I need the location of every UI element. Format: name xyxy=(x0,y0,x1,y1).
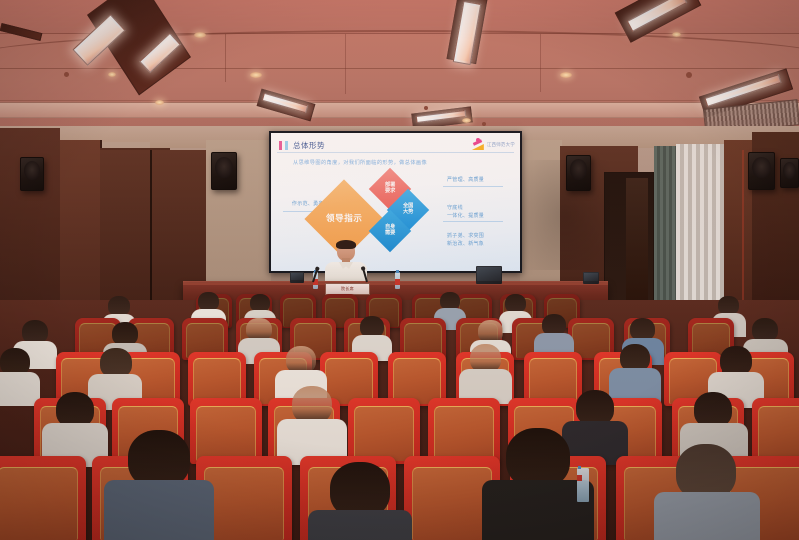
nameplate-text: 院长席 xyxy=(341,286,354,292)
curtain-dark-right xyxy=(654,146,676,316)
diagram-node-top-right-label: 部署 要求 xyxy=(385,183,395,195)
wall-wood-left-door xyxy=(60,140,102,320)
wall-shadow-right xyxy=(520,160,610,270)
ceiling-sprinkler-3 xyxy=(686,72,692,78)
ceiling-seam-v2 xyxy=(345,34,346,94)
curtain-white-right xyxy=(676,144,728,324)
presenter-hair xyxy=(336,240,356,249)
wall-seam-right-1 xyxy=(742,150,744,320)
ceiling-downlight-3 xyxy=(108,72,116,77)
ceiling-downlight-2 xyxy=(250,72,262,78)
ceiling-seam-2 xyxy=(0,100,799,101)
ceiling-sprinkler-1 xyxy=(64,72,69,77)
audience-head xyxy=(506,428,570,488)
ceiling-downlight-1 xyxy=(194,32,206,38)
ceiling xyxy=(0,0,799,132)
wall-speaker-left xyxy=(211,152,237,190)
wall-speaker-far-right xyxy=(748,152,775,190)
water-bottle-audience xyxy=(577,468,589,502)
alcove-inner-panel xyxy=(626,178,648,308)
diagram-annotation-right-1: 严管理、高质量 xyxy=(447,177,484,185)
wall-speaker-far-right-2 xyxy=(780,158,799,188)
audience-body xyxy=(104,480,214,540)
projection-screen-frame: 总体形势 江西师范大学 从思维导图的角度，对我们所面临的形势，做总体画像 作示范… xyxy=(269,131,522,273)
seat-r4-5[interactable] xyxy=(348,398,420,464)
ceiling-downlight-6 xyxy=(672,32,681,37)
ceiling-seam-v1 xyxy=(225,34,226,82)
annotation-line-right-1 xyxy=(443,186,503,187)
ceiling-downlight-4 xyxy=(560,72,572,78)
audience-head xyxy=(108,296,130,316)
audience-body xyxy=(609,368,661,402)
ceiling-sprinkler-2 xyxy=(424,106,428,110)
seat-r4-10[interactable] xyxy=(752,398,799,464)
annotation-line-right-2 xyxy=(443,221,503,222)
diagram-node-right-label: 全国 大势 xyxy=(403,204,413,216)
diagram-node-center-label: 领导指示 xyxy=(326,214,362,224)
diagram-node-bottom-right-label: 自身 需要 xyxy=(385,225,395,237)
wall-speaker-far-left xyxy=(20,157,44,191)
slide-diagram: 作示范、勇争先 严管理、高质量 守底线 一体化、提质量 抓子弟、求突围 新治改、… xyxy=(271,133,520,271)
audience-body xyxy=(0,372,40,406)
seat-r5-1[interactable] xyxy=(0,456,86,540)
wall-seam-left-2 xyxy=(150,150,152,320)
ceiling-downlight-5 xyxy=(155,100,164,105)
ceiling-downlight-7 xyxy=(462,118,471,123)
podium-monitor-right[interactable] xyxy=(476,266,502,284)
podium-monitor-far-right[interactable] xyxy=(583,272,599,284)
water-bottle-podium-2 xyxy=(395,272,400,289)
podium-monitor-left[interactable] xyxy=(290,272,304,283)
diagram-annotation-right-2: 守底线 一体化、提质量 xyxy=(447,205,484,220)
audience-body xyxy=(654,492,760,540)
ceiling-seam-v3 xyxy=(540,34,541,92)
diagram-annotation-right-3: 抓子弟、求突围 新治改、新气象 xyxy=(447,233,484,248)
seat-r4-3[interactable] xyxy=(190,398,262,464)
ceiling-seam-1 xyxy=(0,68,799,69)
conference-hall-scene: 总体形势 江西师范大学 从思维导图的角度，对我们所面临的形势，做总体画像 作示范… xyxy=(0,0,799,540)
projection-screen[interactable]: 总体形势 江西师范大学 从思维导图的角度，对我们所面临的形势，做总体画像 作示范… xyxy=(271,133,520,271)
seat-r4-6[interactable] xyxy=(428,398,500,464)
ceiling-cove-strip xyxy=(0,102,799,118)
audience-body xyxy=(308,510,412,540)
